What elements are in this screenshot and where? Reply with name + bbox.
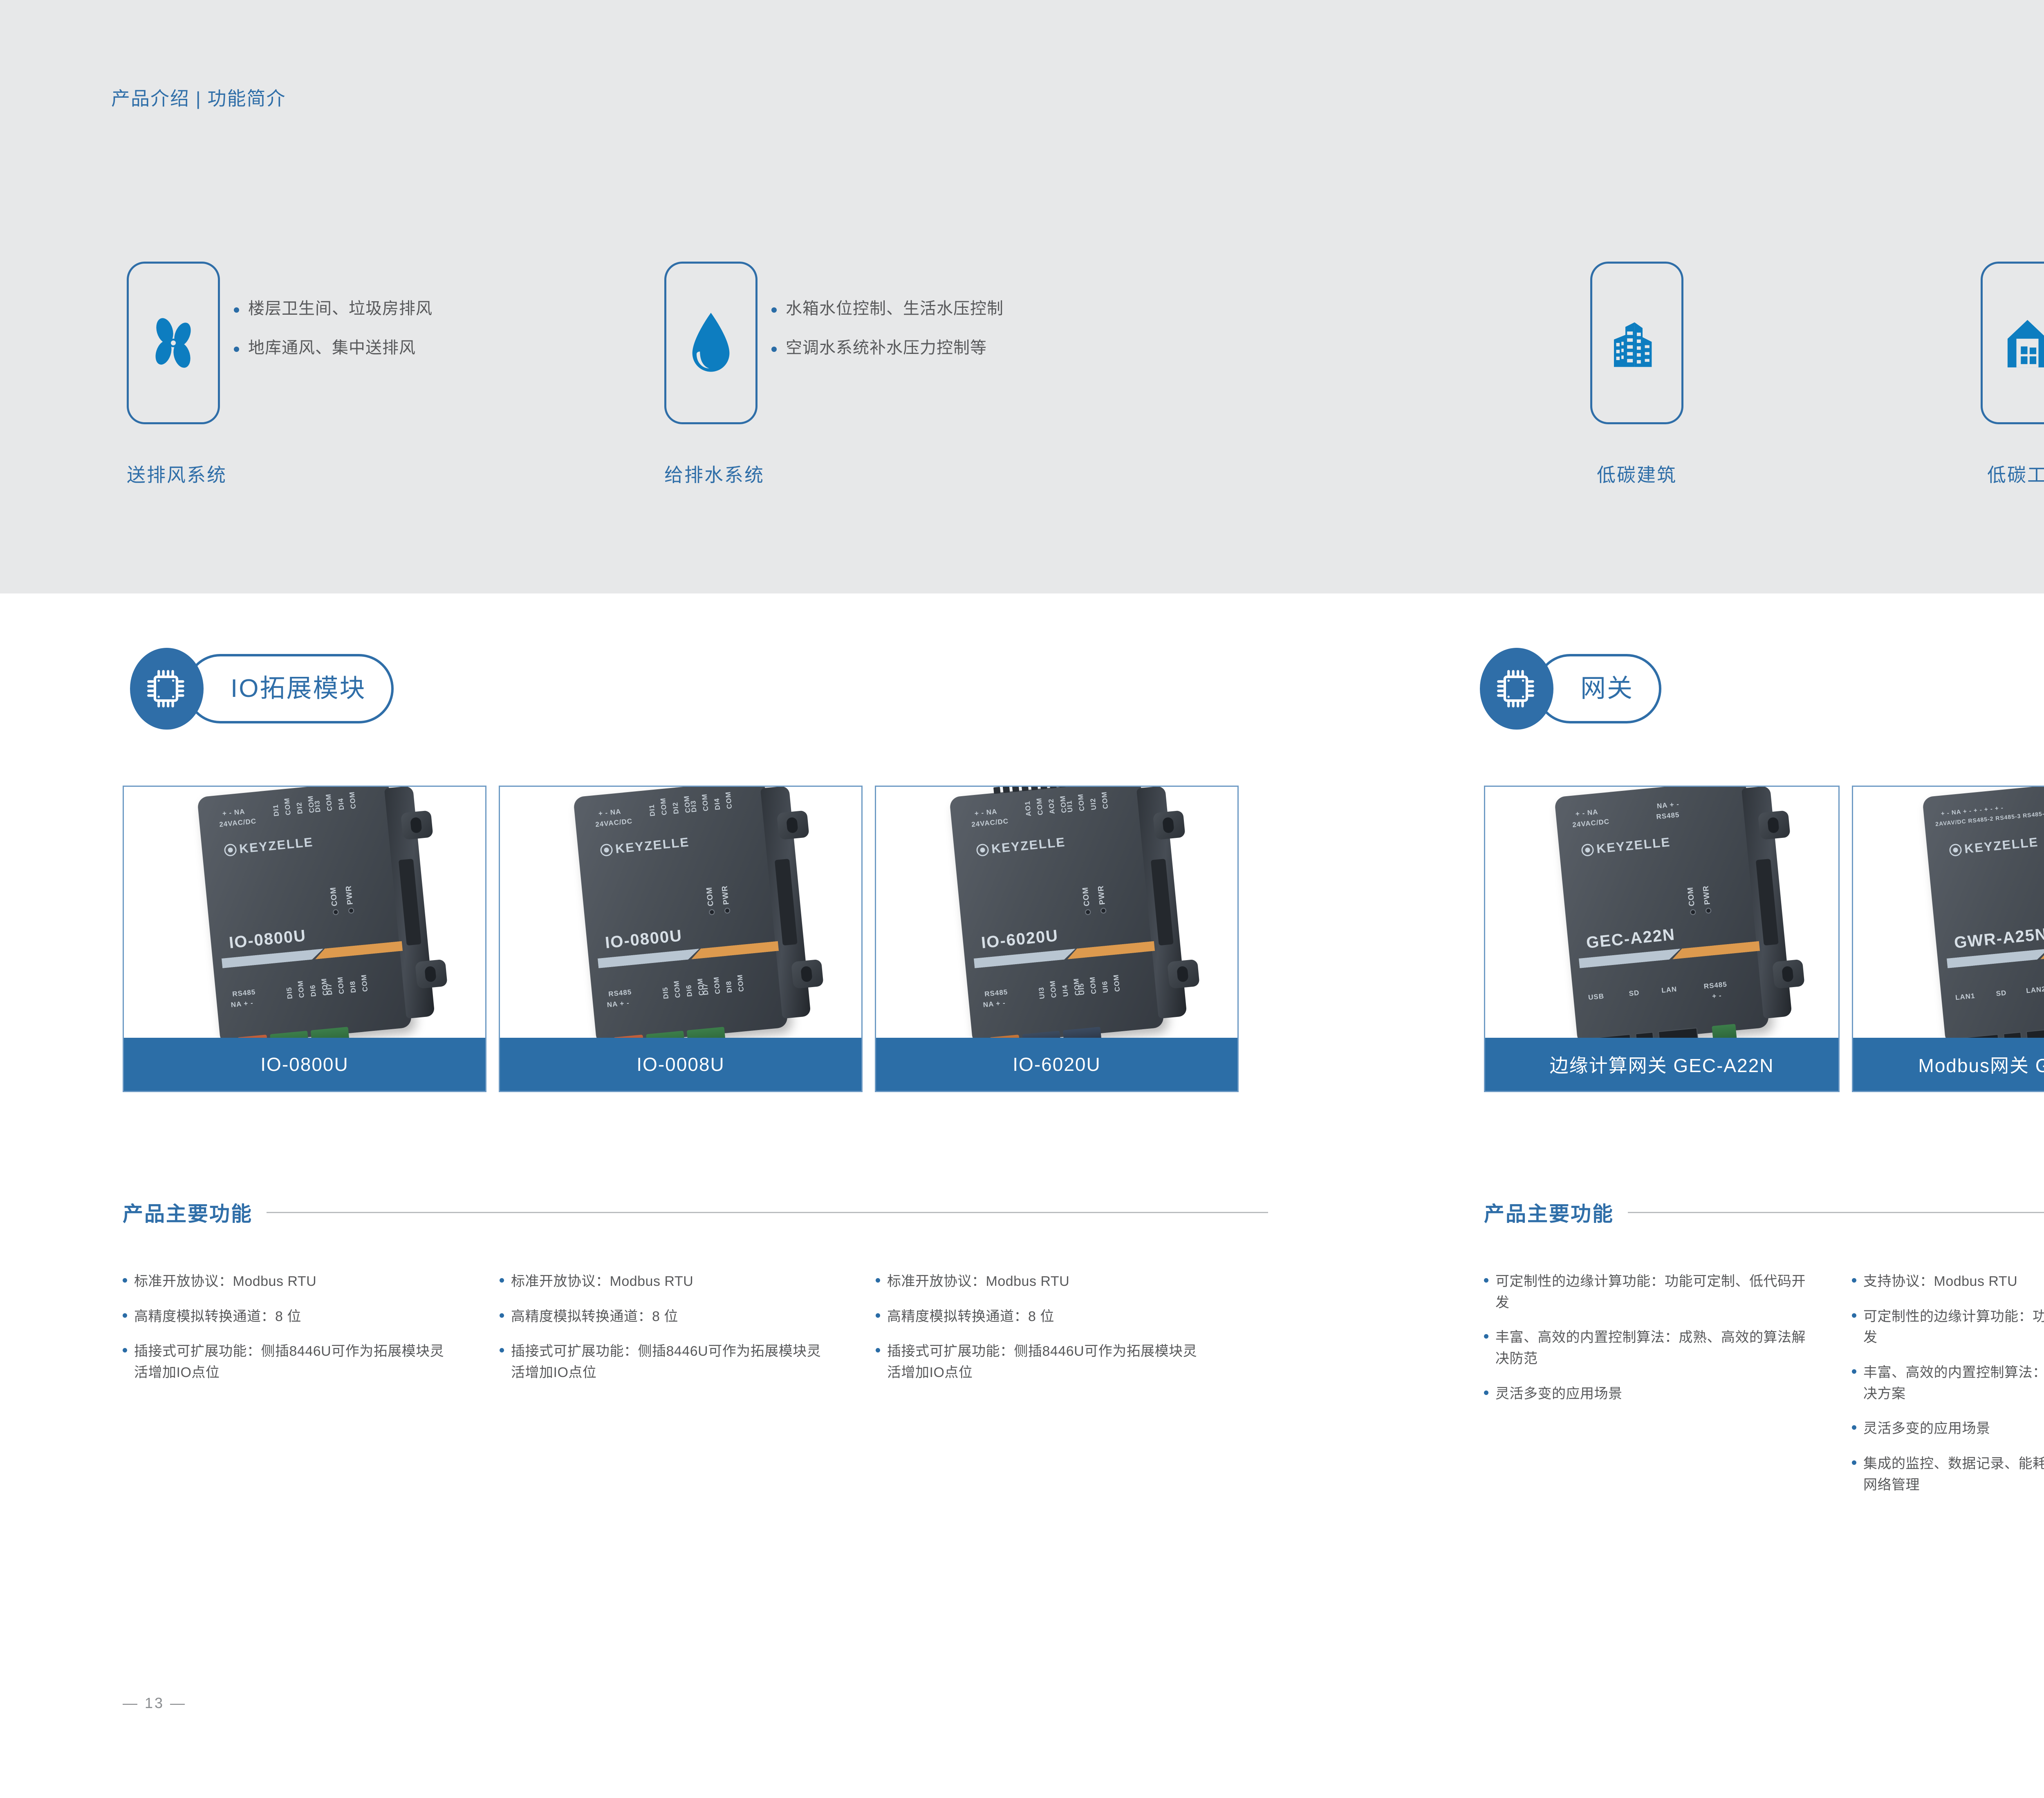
terminal-label: UI3 (1037, 981, 1047, 999)
device-illustration: + - NA 24VAC/DC AO1COMAO2COM UI1COMUI2CO… (949, 787, 1164, 1038)
product-caption: IO-0800U (124, 1038, 485, 1091)
terminal-label: DI4 (712, 792, 722, 810)
led-group: COM PWR (1081, 884, 1114, 916)
feature-text: 高精度模拟转换通道：8 位 (887, 1306, 1054, 1328)
chip-icon-circle (1480, 648, 1553, 730)
terminal-label: COM (672, 980, 682, 998)
led-group: COM PWR (1686, 884, 1719, 916)
terminal-label: COM (325, 793, 334, 811)
features-rule (267, 1212, 1268, 1213)
terminal-label: COM (1035, 797, 1045, 815)
scenario-block-water: 给排水系统 水箱水位控制、生活水压控制 空调水系统补水压力控制等 (664, 262, 764, 487)
top-gray-band (0, 0, 2044, 593)
feature-text: 标准开放协议：Modbus RTU (134, 1271, 316, 1292)
device-illustration: + - NA + - + - + - + - 2AVAV/DC RS485-2 … (1922, 787, 2044, 1038)
bullet-text: 水箱水位控制、生活水压控制 (786, 299, 1004, 318)
feature-text: 丰富、高效的内置控制算法：成熟、高效的算法解决方案 (1863, 1362, 2044, 1404)
port-label-usb: USB (1588, 992, 1605, 1002)
port-label-lan2: LAN2 (2026, 985, 2044, 995)
feature-text: 插接式可扩展功能：侧插8446U可作为拓展模块灵活增加IO点位 (511, 1341, 831, 1383)
led-dot (1706, 908, 1712, 914)
feature-item: 标准开放协议：Modbus RTU (876, 1271, 1207, 1292)
product-image: + - NA 24VAC/DC DI1COMDI2COM DI3COMDI4CO… (500, 787, 861, 1038)
bullet-item: 水箱水位控制、生活水压控制 (771, 299, 1004, 318)
bullet-dot (1852, 1278, 1856, 1283)
feature-text: 灵活多变的应用场景 (1863, 1418, 1990, 1440)
fan-icon-box (127, 262, 220, 424)
feature-column: 支持协议：Modbus RTU 可定制性的边缘计算功能：功能可定制、低代码开发 … (1852, 1271, 2044, 1509)
terminal-label: UI1 (1065, 795, 1075, 813)
water-drop-icon (684, 309, 737, 377)
bullet-dot (500, 1313, 504, 1318)
bullet-dot (1852, 1425, 1856, 1430)
bullet-dot (123, 1278, 127, 1283)
led-dot (1085, 909, 1091, 915)
terminal-label: COM (1049, 980, 1058, 998)
bullet-text: 地库通风、集中送排风 (248, 338, 416, 357)
device-illustration: + - NA 24VAC/DC DI1COMDI2COM DI3COMDI4CO… (197, 787, 412, 1038)
terminal-label: DI5 (285, 981, 294, 999)
features-title: 产品主要功能 (1484, 1198, 1614, 1227)
terminal-label: COM (713, 976, 722, 994)
bullet-dot (1484, 1334, 1488, 1339)
led-label: PWR (1701, 885, 1712, 905)
feature-item: 可定制性的边缘计算功能：功能可定制、低代码开发 (1484, 1271, 1807, 1313)
product-image: + - NA 24VAC/DC DI1COMDI2COM DI3COMDI4CO… (124, 787, 485, 1038)
feature-text: 可定制性的边缘计算功能：功能可定制、低代码开发 (1863, 1306, 2044, 1348)
led-group: COM PWR (329, 884, 362, 916)
product-image: + - NA + - + - + - + - 2AVAV/DC RS485-2 … (1853, 787, 2044, 1038)
bullet-dot (1484, 1390, 1488, 1395)
feature-item: 丰富、高效的内置控制算法：成熟、高效的算法解决防范 (1484, 1327, 1807, 1369)
bullet-dot (1484, 1278, 1488, 1283)
office-building-icon (1608, 312, 1665, 374)
bullet-dot (234, 307, 239, 313)
section-badge-io-module[interactable]: IO拓展模块 (130, 648, 394, 730)
terminal-label: DI1 (271, 799, 281, 817)
terminal-label: COM (659, 797, 669, 815)
feature-text: 插接式可扩展功能：侧插8446U可作为拓展模块灵活增加IO点位 (134, 1341, 454, 1383)
page-number-left: — 13 — (123, 1695, 186, 1712)
terminal-label: DI6 (684, 979, 694, 997)
terminal-label: COM (1089, 976, 1098, 994)
terminal-label: DI2 (295, 796, 305, 814)
led-dot (348, 908, 354, 914)
page-header-left: 产品介绍 | 功能简介 (111, 84, 286, 111)
terminal-label: COM (360, 974, 370, 992)
port-label-sd: SD (1996, 989, 2007, 998)
feature-text: 灵活多变的应用场景 (1495, 1384, 1623, 1405)
feature-column: 可定制性的边缘计算功能：功能可定制、低代码开发 丰富、高效的内置控制算法：成熟、… (1484, 1271, 1807, 1418)
bullet-dot (123, 1313, 127, 1318)
bullet-dot (1852, 1369, 1856, 1374)
features-heading-io: 产品主要功能 (123, 1198, 1268, 1227)
led-label: COM (1081, 887, 1091, 907)
office-building-icon-box (1590, 262, 1683, 424)
feature-text: 插接式可扩展功能：侧插8446U可作为拓展模块灵活增加IO点位 (887, 1341, 1207, 1383)
feature-text: 标准开放协议：Modbus RTU (887, 1271, 1069, 1292)
bullet-item: 楼层卫生间、垃圾房排风 (234, 299, 433, 318)
terminal-label: DI6 (308, 979, 318, 997)
port-label-sd: SD (1629, 989, 1640, 998)
product-card[interactable]: + - NA 24VAC/DC AO1COMAO2COM UI1COMUI2CO… (875, 786, 1239, 1092)
led-label: COM (705, 887, 715, 907)
led-group: COM PWR (705, 884, 738, 916)
bullet-text: 楼层卫生间、垃圾房排风 (248, 299, 433, 318)
scenario-bullets-ventilation: 楼层卫生间、垃圾房排风 地库通风、集中送排风 (234, 299, 433, 378)
section-badge-label: 网关 (1580, 676, 1634, 701)
feature-item: 标准开放协议：Modbus RTU (123, 1271, 454, 1292)
terminal-label: COM (1077, 793, 1087, 811)
feature-text: 高精度模拟转换通道：8 位 (134, 1306, 301, 1328)
bullet-dot (1852, 1313, 1856, 1318)
feature-item: 高精度模拟转换通道：8 位 (500, 1306, 831, 1328)
fan-icon (143, 312, 204, 374)
terminal-label: COM (736, 974, 746, 992)
led-label: PWR (344, 885, 355, 905)
scenario-label-building: 低碳建筑 (1597, 460, 1677, 487)
terminal-label: COM (724, 791, 734, 809)
terminal-label: COM (336, 976, 346, 994)
bullet-item: 空调水系统补水压力控制等 (771, 338, 1004, 357)
led-dot (1100, 908, 1107, 914)
product-caption: IO-6020U (876, 1038, 1237, 1091)
features-heading-gateway: 产品主要功能 (1484, 1198, 2044, 1227)
terminal-label: DI2 (671, 796, 681, 814)
terminal-label: COM (348, 791, 358, 809)
section-badge-pill: IO拓展模块 (186, 654, 394, 723)
factory-icon-box (1981, 262, 2044, 424)
feature-text: 标准开放协议：Modbus RTU (511, 1271, 693, 1292)
device-illustration: + - NA 24VAC/DC DI1COMDI2COM DI3COMDI4CO… (573, 787, 788, 1038)
terminal-label: DI5 (661, 981, 670, 999)
scenario-label-water: 给排水系统 (664, 460, 764, 487)
features-rule (1628, 1212, 2044, 1213)
chip-icon (146, 667, 188, 710)
product-image: + - NA 24VAC/DC AO1COMAO2COM UI1COMUI2CO… (876, 787, 1237, 1038)
terminal-label: COM (283, 797, 293, 815)
bullet-dot (876, 1313, 880, 1318)
product-card[interactable]: + - NA 24VAC/DC DI1COMDI2COM DI3COMDI4CO… (123, 786, 486, 1092)
feature-item: 插接式可扩展功能：侧插8446U可作为拓展模块灵活增加IO点位 (876, 1341, 1207, 1383)
feature-text: 高精度模拟转换通道：8 位 (511, 1306, 678, 1328)
terminal-label: DI1 (647, 799, 657, 817)
brochure-page: 产品介绍 | 功能简介 产品介绍 | 功能简介 送排风系统 楼层卫生 (0, 0, 2044, 1798)
chip-icon (1495, 667, 1538, 710)
feature-item: 插接式可扩展功能：侧插8446U可作为拓展模块灵活增加IO点位 (123, 1341, 454, 1383)
chip-icon-circle (130, 648, 204, 730)
bullet-dot (771, 347, 777, 352)
feature-text: 集成的监控、数据记录、能耗计量、报警、调度和网络管理 (1863, 1453, 2044, 1496)
bullet-dot (876, 1278, 880, 1283)
bullet-dot (500, 1348, 504, 1352)
scenario-block-ventilation: 送排风系统 楼层卫生间、垃圾房排风 地库通风、集中送排风 (127, 262, 227, 487)
terminal-label: COM (1112, 974, 1122, 992)
terminal-label: COM (1100, 791, 1110, 809)
feature-item: 灵活多变的应用场景 (1484, 1384, 1807, 1405)
product-card[interactable]: + - NA + - + - + - + - 2AVAV/DC RS485-2 … (1852, 786, 2044, 1092)
feature-item: 标准开放协议：Modbus RTU (500, 1271, 831, 1292)
factory-icon (2000, 313, 2044, 373)
product-caption: Modbus网关 GWR-A25N (1853, 1038, 2044, 1091)
terminal-label: DI7 (325, 977, 334, 995)
bullet-dot (123, 1348, 127, 1352)
features-title: 产品主要功能 (123, 1198, 253, 1227)
terminal-label: COM (701, 793, 710, 811)
led-label: COM (1686, 887, 1697, 907)
scenario-block-building: 低碳建筑 (1590, 262, 1683, 487)
feature-item: 插接式可扩展功能：侧插8446U可作为拓展模块灵活增加IO点位 (500, 1341, 831, 1383)
bullet-item: 地库通风、集中送排风 (234, 338, 433, 357)
terminal-label: UI6 (1100, 975, 1110, 993)
bullet-dot (500, 1278, 504, 1283)
terminal-label: DI7 (701, 977, 710, 995)
terminal-label: DI8 (724, 975, 734, 993)
led-label: COM (329, 887, 339, 907)
feature-column: 标准开放协议：Modbus RTU 高精度模拟转换通道：8 位 插接式可扩展功能… (500, 1271, 831, 1397)
feature-text: 丰富、高效的内置控制算法：成熟、高效的算法解决防范 (1495, 1327, 1807, 1369)
led-label: PWR (1096, 885, 1107, 905)
feature-item: 灵活多变的应用场景 (1852, 1418, 2044, 1440)
section-badge-label: IO拓展模块 (231, 676, 366, 701)
feature-text: 支持协议：Modbus RTU (1863, 1271, 2017, 1292)
bullet-dot (1852, 1460, 1856, 1465)
bullet-dot (876, 1348, 880, 1352)
feature-item: 高精度模拟转换通道：8 位 (123, 1306, 454, 1328)
led-dot (333, 909, 339, 915)
scenario-label-factory: 低碳工厂 (1987, 460, 2044, 487)
feature-item: 集成的监控、数据记录、能耗计量、报警、调度和网络管理 (1852, 1453, 2044, 1496)
feature-column: 标准开放协议：Modbus RTU 高精度模拟转换通道：8 位 插接式可扩展功能… (123, 1271, 454, 1397)
led-dot (709, 909, 715, 915)
feature-item: 高精度模拟转换通道：8 位 (876, 1306, 1207, 1328)
scenario-block-factory: 低碳工厂 (1981, 262, 2044, 487)
terminal-label: UI2 (1088, 792, 1098, 810)
product-caption: IO-0008U (500, 1038, 861, 1091)
product-card[interactable]: + - NA 24VAC/DC DI1COMDI2COM DI3COMDI4CO… (499, 786, 863, 1092)
terminal-label: DI8 (348, 975, 358, 993)
terminal-label: AO2 (1047, 796, 1057, 814)
section-badge-pill: 网关 (1535, 654, 1661, 723)
terminal-label: AO1 (1023, 799, 1033, 817)
port-sublabel: + - (1712, 992, 1722, 1001)
feature-column: 标准开放协议：Modbus RTU 高精度模拟转换通道：8 位 插接式可扩展功能… (876, 1271, 1207, 1397)
scenario-bullets-water: 水箱水位控制、生活水压控制 空调水系统补水压力控制等 (771, 299, 1004, 378)
terminal-label: UI4 (1060, 979, 1070, 997)
led-dot (724, 908, 731, 914)
product-image: + - NA 24VAC/DC NA + - RS485 KEYZELLE CO… (1485, 787, 1838, 1038)
terminal-label: UI5 (1077, 977, 1087, 995)
bullet-dot (234, 347, 239, 352)
product-card[interactable]: + - NA 24VAC/DC NA + - RS485 KEYZELLE CO… (1484, 786, 1840, 1092)
feature-text: 可定制性的边缘计算功能：功能可定制、低代码开发 (1495, 1271, 1807, 1313)
terminal-label: DI3 (689, 795, 699, 813)
led-label: PWR (720, 885, 731, 905)
terminal-label: DI3 (313, 795, 323, 813)
feature-item: 可定制性的边缘计算功能：功能可定制、低代码开发 (1852, 1306, 2044, 1348)
port-label-lan: LAN (1661, 985, 1677, 995)
led-dot (1690, 909, 1696, 915)
terminal-label: DI4 (336, 792, 346, 810)
terminal-label: COM (296, 980, 306, 998)
bullet-text: 空调水系统补水压力控制等 (786, 338, 987, 357)
water-drop-icon-box (664, 262, 758, 424)
section-badge-gateway[interactable]: 网关 (1480, 648, 1661, 730)
device-illustration: + - NA 24VAC/DC NA + - RS485 KEYZELLE CO… (1554, 787, 1769, 1038)
product-caption: 边缘计算网关 GEC-A22N (1485, 1038, 1838, 1091)
bullet-dot (771, 307, 777, 313)
scenario-label-ventilation: 送排风系统 (127, 460, 227, 487)
feature-item: 支持协议：Modbus RTU (1852, 1271, 2044, 1292)
feature-item: 丰富、高效的内置控制算法：成熟、高效的算法解决方案 (1852, 1362, 2044, 1404)
